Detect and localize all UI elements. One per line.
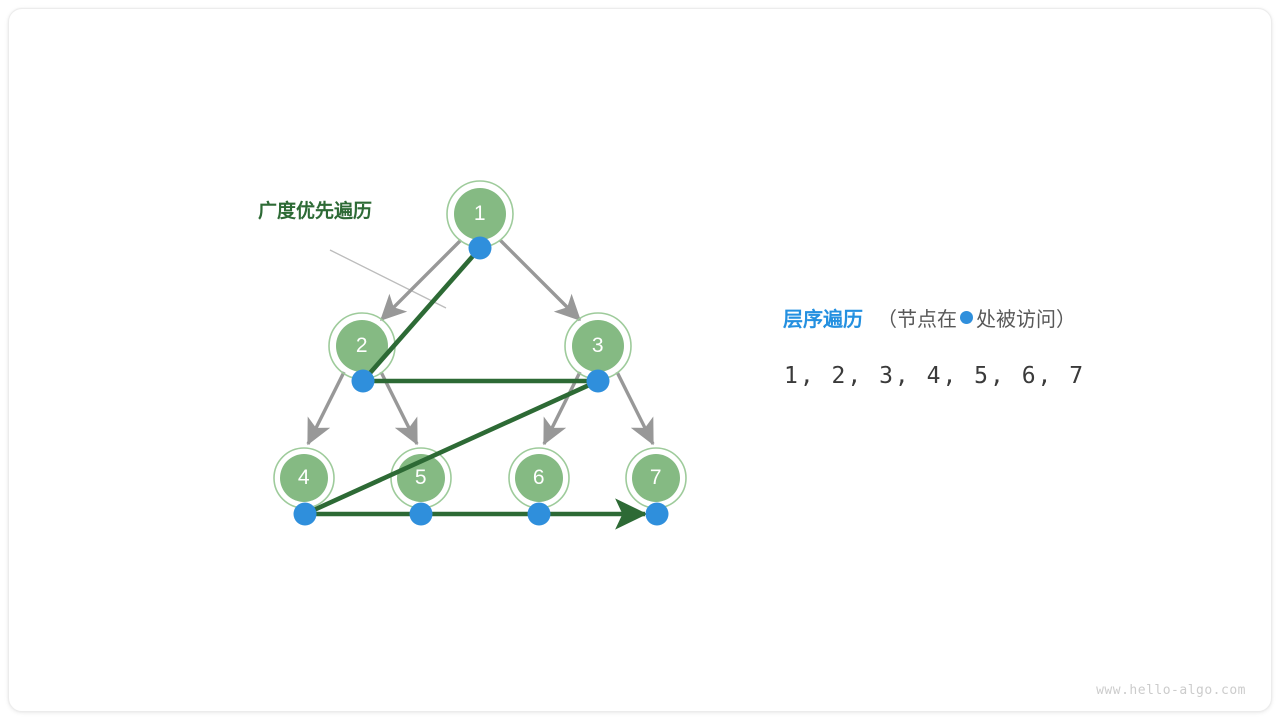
visit-dot-4 [294,503,317,526]
bfs-tree-diagram [0,0,1280,720]
tree-node-6[interactable] [509,448,569,508]
visit-dot-6 [528,503,551,526]
visit-dot-3 [587,370,610,393]
tree-nodes [274,181,686,508]
visit-dot-1 [469,237,492,260]
tree-node-5[interactable] [391,448,451,508]
annotation-leader-line [330,250,446,308]
visit-dot-7 [646,503,669,526]
traversal-sequence: 1, 2, 3, 4, 5, 6, 7 [784,363,1085,389]
level-order-title: 层序遍历 [783,303,863,332]
level-order-note-prefix: （节点在 [877,303,957,332]
tree-node-3[interactable] [565,313,631,379]
edge-3-7 [617,372,653,444]
tree-node-2[interactable] [329,313,395,379]
edge-1-3 [500,240,580,320]
level-order-note: （节点在 处被访问） [877,303,1076,332]
edge-2-4 [308,372,344,444]
screenshot-canvas: 1 2 3 4 5 6 7 广度优先遍历 层序遍历 （节点在 处被访问） 1, … [0,0,1280,720]
visit-dot-5 [410,503,433,526]
bfs-annotation-label: 广度优先遍历 [258,196,372,223]
traversal-1-2 [363,248,480,381]
tree-node-7[interactable] [626,448,686,508]
level-order-note-suffix: 处被访问） [976,303,1076,332]
visit-dot-icon [960,311,973,324]
level-order-legend: 层序遍历 （节点在 处被访问） [783,303,1076,332]
site-watermark: www.hello-algo.com [1096,683,1246,698]
visit-dot-2 [352,370,375,393]
tree-node-4[interactable] [274,448,334,508]
